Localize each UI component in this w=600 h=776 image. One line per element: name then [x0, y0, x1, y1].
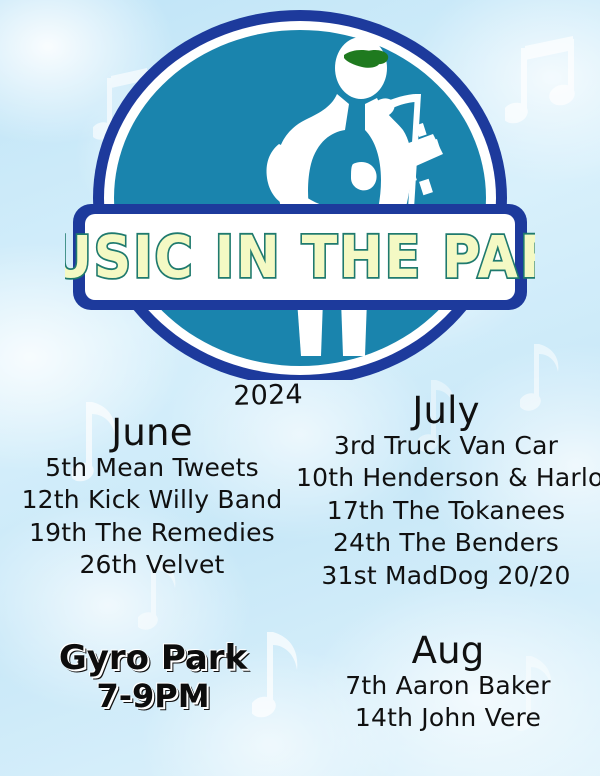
schedule-column-june: June 5th Mean Tweets 12th Kick Willy Ban…	[6, 414, 298, 582]
schedule-entry: 17th The Tokanees	[296, 495, 596, 528]
schedule-column-aug: Aug 7th Aaron Baker 14th John Vere	[300, 632, 596, 735]
venue-block: Gyro Park 7-9PM	[28, 638, 278, 716]
schedule-entry: 24th The Benders	[296, 527, 596, 560]
month-title-june: June	[6, 414, 298, 452]
schedule-entry: 7th Aaron Baker	[300, 670, 596, 703]
schedule-entry: 14th John Vere	[300, 702, 596, 735]
logo-title-text: MUSIC IN THE PARK	[65, 224, 535, 292]
month-title-aug: Aug	[300, 632, 596, 670]
schedule-column-july: July 3rd Truck Van Car 10th Henderson & …	[296, 392, 596, 592]
venue-time: 7-9PM	[28, 678, 278, 716]
schedule-entry: 26th Velvet	[6, 549, 298, 582]
schedule-entry: 10th Henderson & Harlow	[296, 462, 596, 495]
schedule-entry: 12th Kick Willy Band	[6, 484, 298, 517]
venue-name: Gyro Park	[28, 638, 278, 678]
music-in-the-park-logo: MUSIC IN THE PARK	[65, 8, 535, 380]
month-title-july: July	[296, 392, 596, 430]
schedule-entry: 3rd Truck Van Car	[296, 430, 596, 463]
schedule-entry: 19th The Remedies	[6, 517, 298, 550]
schedule-entry: 5th Mean Tweets	[6, 452, 298, 485]
schedule-entry: 31st MadDog 20/20	[296, 560, 596, 593]
poster-canvas: MUSIC IN THE PARK 2024 June 5th Mean Twe…	[0, 0, 600, 776]
